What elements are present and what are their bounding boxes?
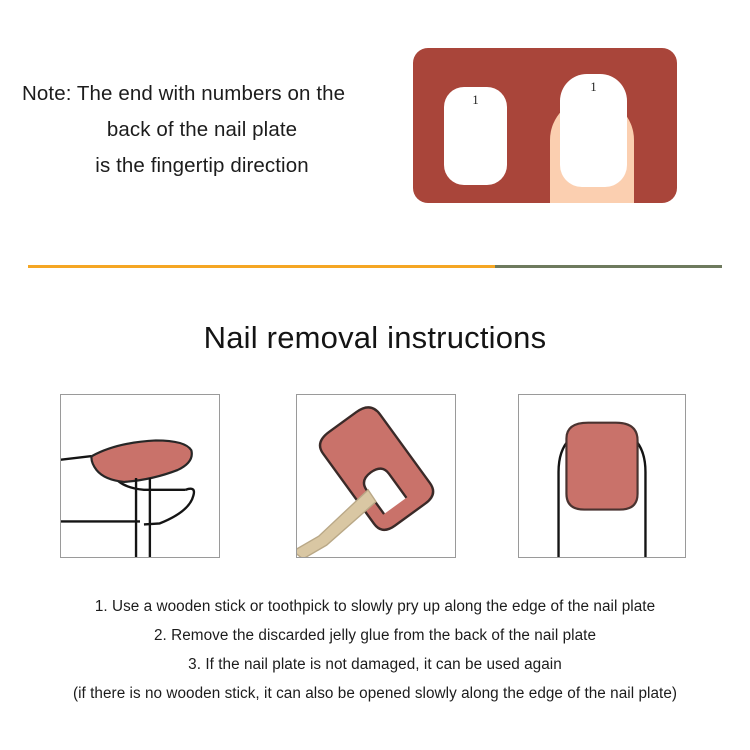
illustration-box-1 [60, 394, 220, 558]
scrape-glue-icon [297, 395, 455, 557]
instruction-step-2: 2. Remove the discarded jelly glue from … [0, 621, 750, 650]
instruction-note: (if there is no wooden stick, it can als… [0, 679, 750, 708]
note-line-3: is the fingertip direction [14, 148, 390, 184]
instruction-step-1: 1. Use a wooden stick or toothpick to sl… [0, 592, 750, 621]
nail-plate-right: 1 [560, 74, 627, 187]
nail-number-label-right: 1 [560, 80, 627, 95]
section-divider [28, 265, 722, 268]
divider-segment-orange [28, 265, 495, 268]
illustration-box-2 [296, 394, 456, 558]
page-title: Nail removal instructions [0, 320, 750, 356]
note-text-block: Note: The end with numbers on the back o… [14, 76, 390, 184]
instruction-page: Note: The end with numbers on the back o… [0, 0, 750, 750]
finger-with-nail-icon [519, 395, 685, 557]
note-line-2: back of the nail plate [14, 112, 390, 148]
note-line-1: Note: The end with numbers on the [14, 76, 390, 112]
instruction-steps: 1. Use a wooden stick or toothpick to sl… [0, 592, 750, 708]
illustration-row [0, 394, 750, 560]
pry-up-nail-icon [61, 395, 219, 557]
note-section: Note: The end with numbers on the back o… [0, 0, 750, 250]
illustration-box-3 [518, 394, 686, 558]
instruction-step-3: 3. If the nail plate is not damaged, it … [0, 650, 750, 679]
divider-segment-green [495, 265, 722, 268]
nail-plate-left: 1 [444, 87, 507, 185]
nail-plate-card-illustration: 1 1 [413, 48, 677, 203]
nail-number-label-left: 1 [444, 93, 507, 108]
